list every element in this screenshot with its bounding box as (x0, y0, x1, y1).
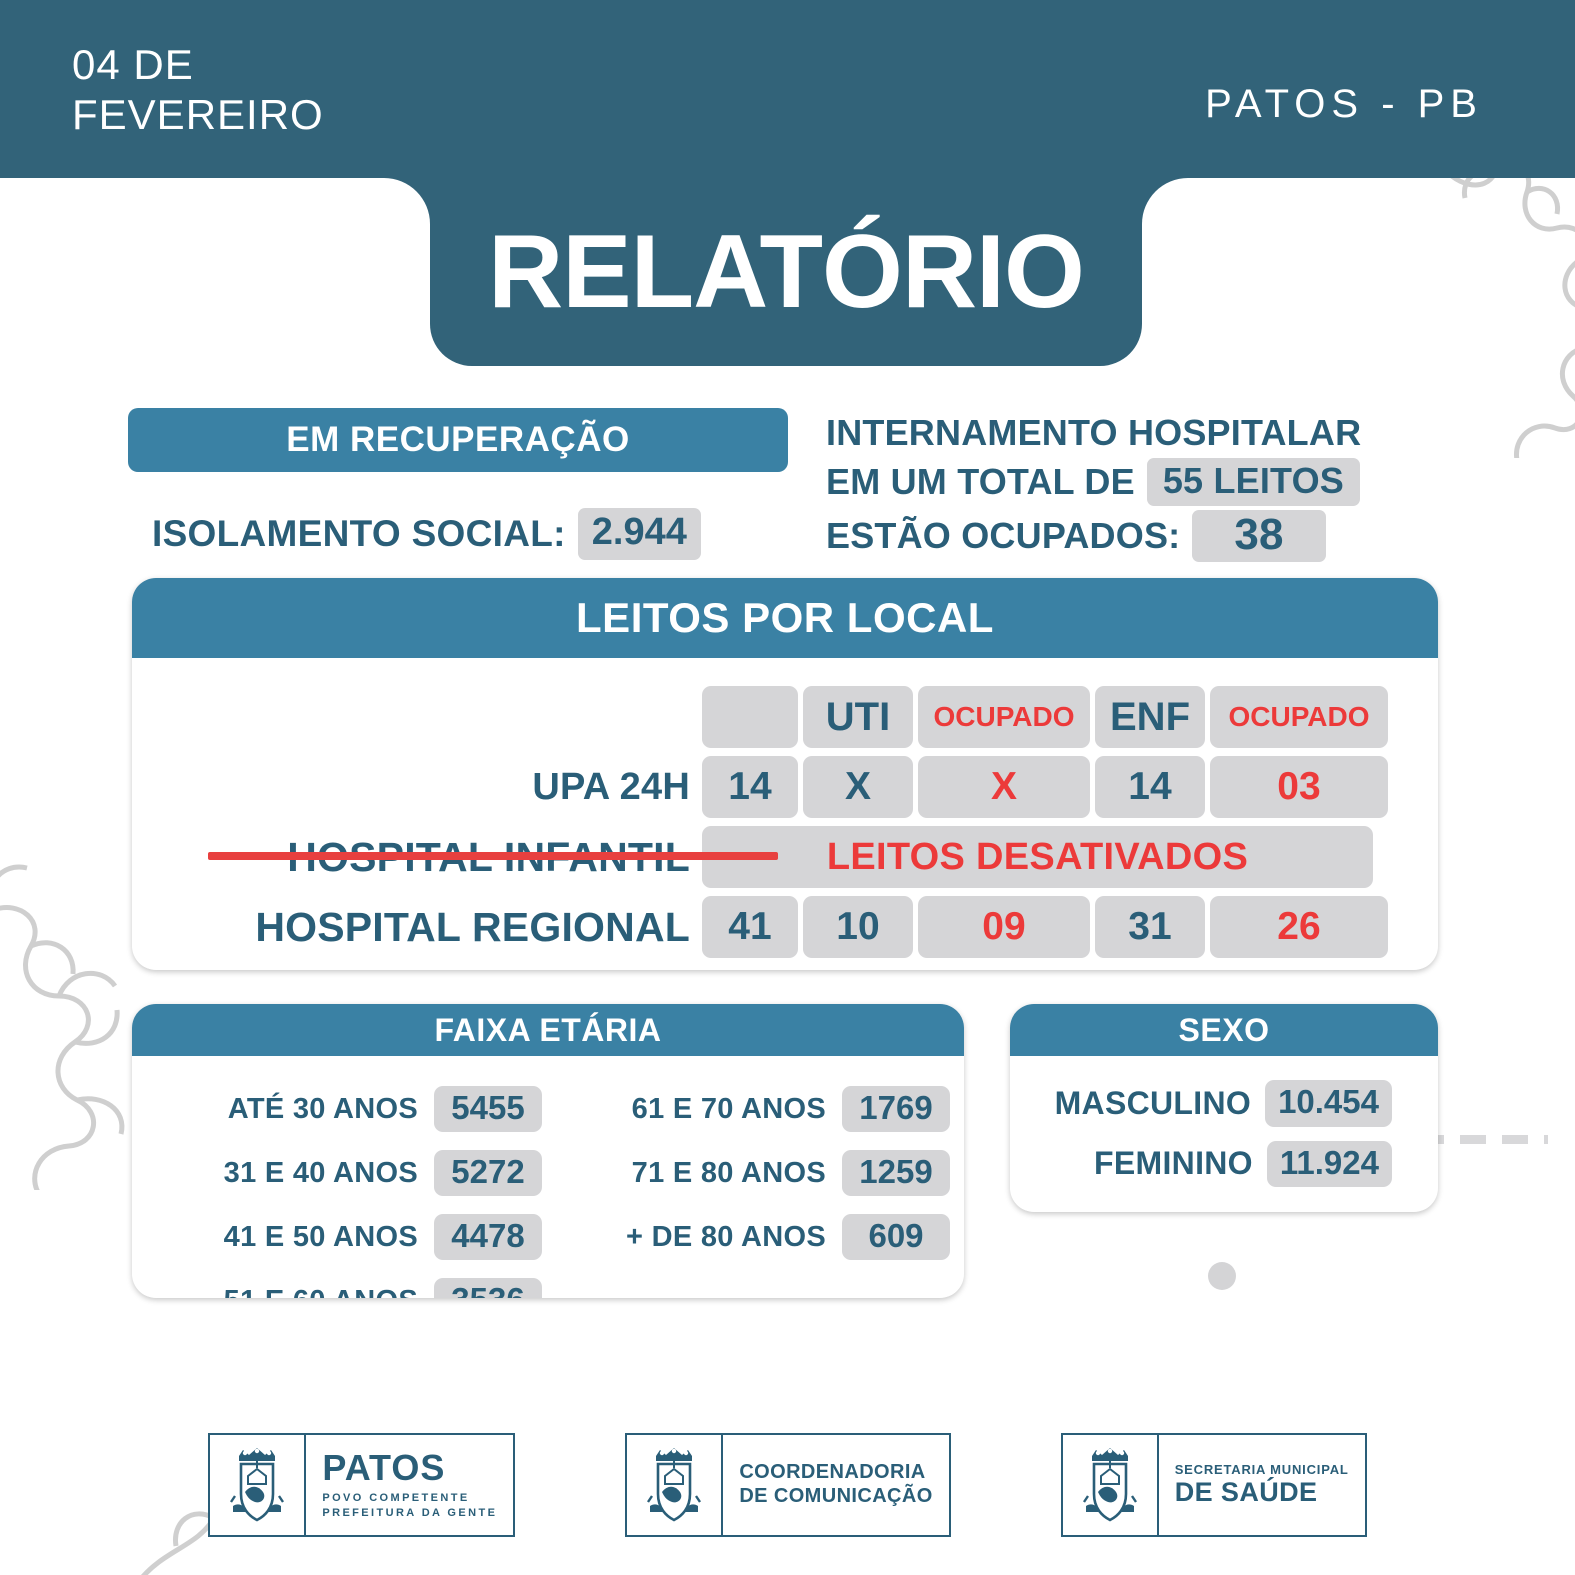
age-value-3: 3536 (434, 1278, 542, 1298)
beds-header-spacer (132, 696, 702, 739)
hospitalization-total-line: EM UM TOTAL DE 55 LEITOS (826, 458, 1416, 506)
title-notch-left (384, 178, 430, 224)
sex-card-header: SEXO (1010, 1004, 1438, 1056)
footer-logos: PATOS POVO COMPETENTE PREFEITURA DA GENT… (0, 1430, 1575, 1540)
page-header: 04 DE FEVEREIRO PATOS - PB (0, 0, 1575, 178)
beds-col-blank (702, 686, 798, 748)
beds-table-header-row: UTI OCUPADO ENF OCUPADO (132, 686, 1438, 748)
decor-dot-3 (1208, 1262, 1236, 1290)
page-title-tab: RELATÓRIO (430, 178, 1142, 366)
beds-row-name-hospital-regional: HOSPITAL REGIONAL (132, 904, 702, 951)
list-item: 61 E 70 ANOS 1769 (552, 1086, 964, 1132)
hospitalization-total-label: EM UM TOTAL DE (826, 461, 1135, 503)
age-range-body: ATÉ 30 ANOS 5455 31 E 40 ANOS 5272 41 E … (132, 1056, 964, 1298)
beds-table: UTI OCUPADO ENF OCUPADO UPA 24H 14 X X 1… (132, 658, 1438, 970)
beds-col-uti-ocupado: OCUPADO (918, 686, 1090, 748)
hospitalization-total-value: 55 LEITOS (1147, 458, 1360, 506)
age-value-1: 5272 (434, 1150, 542, 1197)
logo-saude-big: DE SAÚDE (1175, 1478, 1318, 1508)
beds-col-enf: ENF (1095, 686, 1205, 748)
age-label-2: 41 E 50 ANOS (160, 1221, 418, 1254)
age-card-header: FAIXA ETÁRIA (132, 1004, 964, 1056)
logo-prefeitura-sub: POVO COMPETENTE PREFEITURA DA GENTE (322, 1491, 497, 1521)
sex-value-masculino: 10.454 (1265, 1080, 1392, 1127)
logo-prefeitura-patos: PATOS POVO COMPETENTE PREFEITURA DA GENT… (208, 1433, 515, 1537)
age-label-4: 61 E 70 ANOS (552, 1093, 826, 1126)
logo-coordenadoria-text: COORDENADORIA DE COMUNICAÇÃO (723, 1435, 948, 1535)
logo-prefeitura-text: PATOS POVO COMPETENTE PREFEITURA DA GENT… (306, 1435, 513, 1535)
hospitalization-occupied-line: ESTÃO OCUPADOS: 38 (826, 510, 1416, 562)
logo-coordenadoria-label: COORDENADORIA DE COMUNICAÇÃO (739, 1461, 932, 1508)
logo-saude-text: SECRETARIA MUNICIPAL DE SAÚDE (1159, 1435, 1365, 1535)
list-item: 71 E 80 ANOS 1259 (552, 1150, 964, 1196)
logo-coordenadoria-comunicacao: COORDENADORIA DE COMUNICAÇÃO (625, 1433, 950, 1537)
beds-cell-upa-total: 14 (702, 756, 798, 818)
sex-label-masculino: MASCULINO (1055, 1085, 1251, 1122)
sex-card: SEXO MASCULINO 10.454 FEMININO 11.924 (1010, 1004, 1438, 1212)
logo-saude-tiny: SECRETARIA MUNICIPAL (1175, 1463, 1349, 1476)
list-item: MASCULINO 10.454 (1010, 1080, 1438, 1127)
table-row: HOSPITAL REGIONAL 41 10 09 31 26 (132, 896, 1438, 958)
beds-cell-regional-enf: 31 (1095, 896, 1205, 958)
age-value-6: 609 (842, 1214, 950, 1261)
isolation-label: ISOLAMENTO SOCIAL: (152, 513, 566, 555)
recovery-badge: EM RECUPERAÇÃO (128, 408, 788, 472)
age-range-column-left: ATÉ 30 ANOS 5455 31 E 40 ANOS 5272 41 E … (132, 1056, 552, 1298)
age-range-column-right: 61 E 70 ANOS 1769 71 E 80 ANOS 1259 + DE… (552, 1056, 964, 1298)
hospitalization-block: INTERNAMENTO HOSPITALAR EM UM TOTAL DE 5… (826, 412, 1416, 566)
beds-cell-upa-uti-ocupado: X (918, 756, 1090, 818)
list-item: FEMININO 11.924 (1010, 1141, 1438, 1188)
hospitalization-occupied-value: 38 (1192, 510, 1325, 562)
sex-card-title: SEXO (1179, 1012, 1270, 1049)
age-value-5: 1259 (842, 1150, 950, 1197)
age-label-0: ATÉ 30 ANOS (160, 1093, 418, 1126)
recovery-badge-label: EM RECUPERAÇÃO (286, 420, 629, 460)
age-label-5: 71 E 80 ANOS (552, 1157, 826, 1190)
beds-cell-regional-enf-ocupado: 26 (1210, 896, 1388, 958)
beds-card-title: LEITOS POR LOCAL (576, 594, 994, 642)
age-label-1: 31 E 40 ANOS (160, 1157, 418, 1190)
strikethrough-line-hospital-infantil (208, 852, 778, 860)
page-title: RELATÓRIO (488, 220, 1084, 324)
age-label-3: 51 E 60 ANOS (160, 1285, 418, 1299)
beds-card-header: LEITOS POR LOCAL (132, 578, 1438, 658)
beds-col-enf-ocupado: OCUPADO (1210, 686, 1388, 748)
hospitalization-occupied-label: ESTÃO OCUPADOS: (826, 515, 1180, 557)
beds-cell-upa-enf-ocupado: 03 (1210, 756, 1388, 818)
coat-of-arms-icon (627, 1435, 723, 1535)
list-item: + DE 80 ANOS 609 (552, 1214, 964, 1260)
age-value-2: 4478 (434, 1214, 542, 1261)
logo-secretaria-saude: SECRETARIA MUNICIPAL DE SAÚDE (1061, 1433, 1367, 1537)
list-item: 31 E 40 ANOS 5272 (160, 1150, 552, 1196)
beds-cell-regional-uti-ocupado: 09 (918, 896, 1090, 958)
age-value-4: 1769 (842, 1086, 950, 1133)
beds-cell-upa-enf: 14 (1095, 756, 1205, 818)
sex-body: MASCULINO 10.454 FEMININO 11.924 (1010, 1056, 1438, 1212)
list-item: 51 E 60 ANOS 3536 (160, 1278, 552, 1298)
age-value-0: 5455 (434, 1086, 542, 1133)
beds-col-uti: UTI (803, 686, 913, 748)
sex-value-feminino: 11.924 (1267, 1141, 1392, 1188)
age-label-6: + DE 80 ANOS (552, 1221, 826, 1254)
table-row: UPA 24H 14 X X 14 03 (132, 756, 1438, 818)
logo-prefeitura-main: PATOS (322, 1450, 445, 1486)
beds-by-location-card: LEITOS POR LOCAL UTI OCUPADO ENF OCUPADO… (132, 578, 1438, 970)
beds-cell-deactivated-note: LEITOS DESATIVADOS (702, 826, 1373, 888)
beds-cell-upa-uti: X (803, 756, 913, 818)
coat-of-arms-icon (210, 1435, 306, 1535)
report-page: 04 DE FEVEREIRO PATOS - PB RELATÓRIO EM … (0, 0, 1575, 1575)
age-card-title: FAIXA ETÁRIA (434, 1012, 661, 1049)
list-item: 41 E 50 ANOS 4478 (160, 1214, 552, 1260)
title-notch-right (1142, 178, 1188, 224)
beds-row-name-upa: UPA 24H (132, 766, 702, 809)
header-city: PATOS - PB (1205, 82, 1483, 127)
age-range-card: FAIXA ETÁRIA ATÉ 30 ANOS 5455 31 E 40 AN… (132, 1004, 964, 1298)
coat-of-arms-icon (1063, 1435, 1159, 1535)
isolation-value: 2.944 (578, 508, 701, 560)
isolation-stat: ISOLAMENTO SOCIAL: 2.944 (152, 508, 701, 560)
beds-cell-regional-total: 41 (702, 896, 798, 958)
beds-cell-regional-uti: 10 (803, 896, 913, 958)
sex-label-feminino: FEMININO (1094, 1145, 1253, 1182)
hospitalization-title: INTERNAMENTO HOSPITALAR (826, 412, 1361, 454)
hospitalization-title-line: INTERNAMENTO HOSPITALAR (826, 412, 1416, 454)
list-item: ATÉ 30 ANOS 5455 (160, 1086, 552, 1132)
header-date: 04 DE FEVEREIRO (72, 40, 324, 139)
